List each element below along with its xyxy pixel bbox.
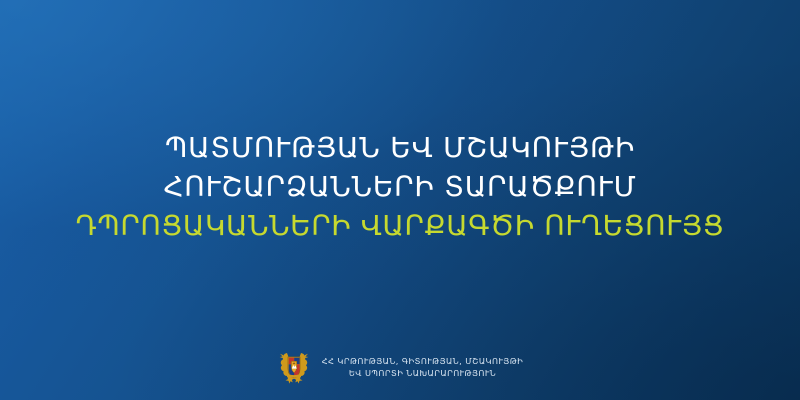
title-slide: ՊԱՏՄՈՒԹՅԱՆ ԵՎ ՄՇԱԿՈՒՅԹԻ ՀՈՒՇԱՐՁԱՆՆԵՐԻ ՏԱ…	[0, 0, 800, 400]
organization-line-1: ՀՀ ԿՐԹՈՒԹՅԱՆ, ԳԻՏՈՒԹՅԱՆ, ՄՇԱԿՈՒՅԹԻ	[322, 355, 524, 367]
title-line-3-subtitle: ԴՊՐՈՑԱԿԱՆՆԵՐԻ ՎԱՐՔԱԳԾԻ ՈՒՂԵՑՈՒՅՑ	[24, 206, 776, 246]
organization-name: ՀՀ ԿՐԹՈՒԹՅԱՆ, ԳԻՏՈՒԹՅԱՆ, ՄՇԱԿՈՒՅԹԻ ԵՎ ՍՊ…	[322, 355, 524, 379]
page-title: ՊԱՏՄՈՒԹՅԱՆ ԵՎ ՄՇԱԿՈՒՅԹԻ ՀՈՒՇԱՐՁԱՆՆԵՐԻ ՏԱ…	[0, 128, 800, 246]
title-line-1: ՊԱՏՄՈՒԹՅԱՆ ԵՎ ՄՇԱԿՈՒՅԹԻ	[24, 128, 776, 167]
footer: ՀՀ ԿՐԹՈՒԹՅԱՆ, ԳԻՏՈՒԹՅԱՆ, ՄՇԱԿՈՒՅԹԻ ԵՎ ՍՊ…	[0, 348, 800, 386]
armenian-coat-of-arms-icon	[277, 348, 311, 386]
organization-line-2: ԵՎ ՍՊՈՐՏԻ ՆԱԽԱՐԱՐՈՒԹՅՈՒՆ	[322, 367, 524, 379]
title-line-2: ՀՈՒՇԱՐՁԱՆՆԵՐԻ ՏԱՐԱԾՔՈՒՄ	[24, 167, 776, 206]
